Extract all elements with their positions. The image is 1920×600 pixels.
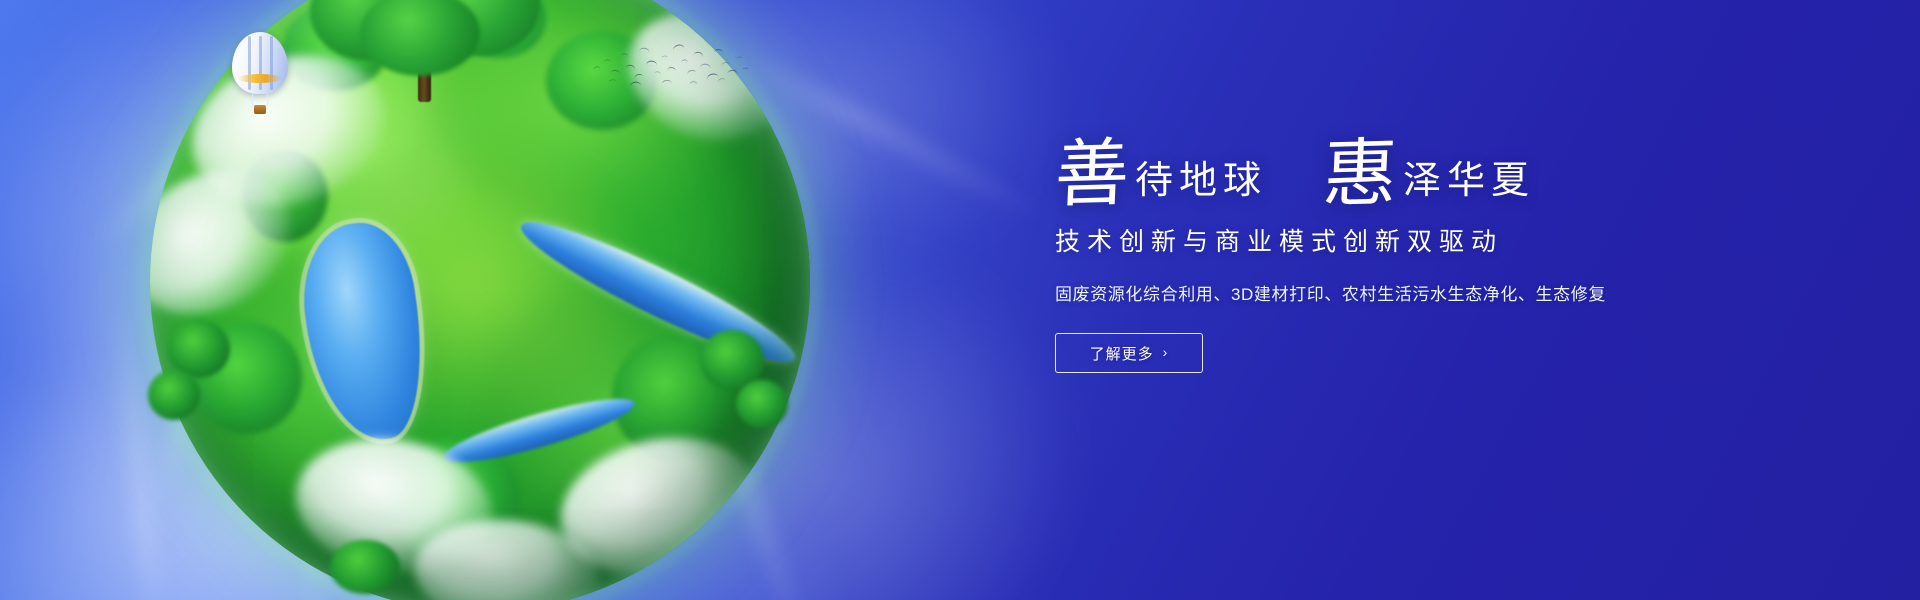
balloon-band bbox=[238, 74, 282, 83]
bird-icon bbox=[717, 78, 725, 83]
bird-icon bbox=[687, 69, 697, 75]
page-title: 善 待地球 惠 泽华夏 bbox=[1055, 140, 1755, 208]
hero-subtitle: 技术创新与商业模式创新双驱动 bbox=[1055, 222, 1755, 258]
headline-lead-char: 惠 bbox=[1321, 139, 1404, 209]
bird-icon bbox=[654, 71, 661, 75]
edge-tree bbox=[736, 380, 788, 428]
learn-more-button[interactable]: 了解更多 › bbox=[1055, 333, 1203, 373]
bird-icon bbox=[646, 60, 657, 65]
hero-banner: 善 待地球 惠 泽华夏 技术创新与商业模式创新双驱动 固废资源化综合利用、3D建… bbox=[0, 0, 1920, 600]
headline-rest-chars: 待地球 bbox=[1135, 161, 1267, 208]
hot-air-balloon bbox=[232, 32, 288, 124]
chevron-right-icon: › bbox=[1163, 345, 1169, 359]
top-tree bbox=[300, 0, 550, 110]
balloon-basket bbox=[254, 105, 266, 114]
bird-icon bbox=[714, 49, 723, 53]
bird-icon bbox=[634, 73, 644, 79]
headline-phrase-one: 善 待地球 bbox=[1055, 140, 1267, 208]
bird-icon bbox=[611, 69, 621, 74]
bird-icon bbox=[681, 59, 688, 62]
edge-tree bbox=[330, 540, 400, 594]
bird-icon bbox=[727, 70, 737, 75]
bird-icon bbox=[604, 59, 611, 62]
learn-more-label: 了解更多 bbox=[1090, 343, 1154, 364]
bird-icon bbox=[690, 81, 698, 84]
hero-description: 固废资源化综合利用、3D建材打印、农村生活污水生态净化、生态修复 bbox=[1055, 280, 1755, 305]
bird-icon bbox=[621, 53, 629, 57]
hero-content: 善 待地球 惠 泽华夏 技术创新与商业模式创新双驱动 固废资源化综合利用、3D建… bbox=[1055, 140, 1755, 373]
bird-icon bbox=[593, 66, 600, 70]
headline-lead-char: 善 bbox=[1053, 139, 1136, 209]
bird-icon bbox=[609, 79, 617, 83]
bird-icon bbox=[721, 61, 730, 66]
bird-flock bbox=[590, 40, 750, 94]
bird-icon bbox=[630, 81, 642, 87]
bird-icon bbox=[661, 55, 668, 58]
headline-phrase-two: 惠 泽华夏 bbox=[1323, 140, 1535, 208]
bird-icon bbox=[736, 56, 743, 60]
headline-rest-chars: 泽华夏 bbox=[1403, 161, 1535, 208]
bird-icon bbox=[625, 64, 636, 70]
bird-icon bbox=[693, 51, 703, 57]
bird-icon bbox=[672, 44, 684, 51]
bird-icon bbox=[661, 79, 671, 85]
bird-icon bbox=[667, 67, 676, 72]
tree-canopy bbox=[360, 0, 480, 76]
bird-icon bbox=[639, 47, 650, 53]
edge-tree bbox=[148, 370, 200, 420]
bird-icon bbox=[706, 72, 718, 79]
bird-icon bbox=[742, 67, 748, 70]
bird-icon bbox=[700, 63, 711, 69]
